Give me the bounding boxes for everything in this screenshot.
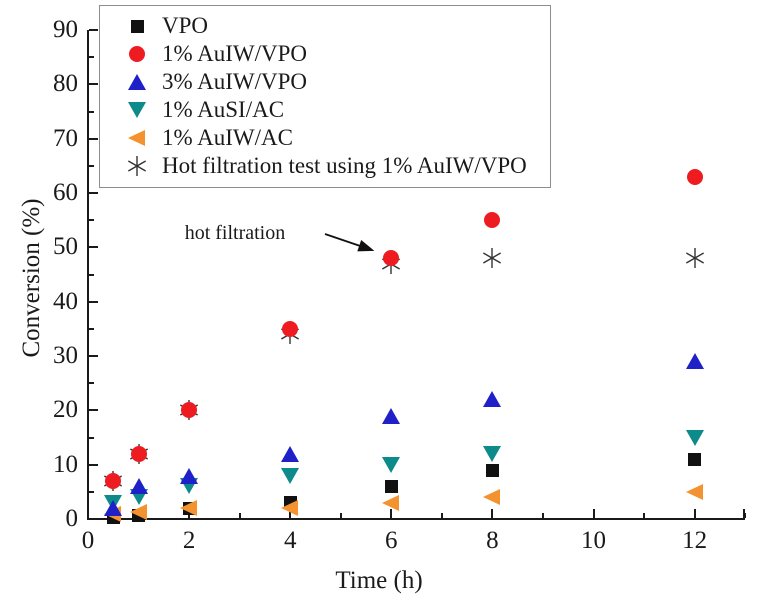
data-point bbox=[483, 446, 501, 462]
y-tick-minor bbox=[89, 165, 94, 167]
data-point bbox=[684, 247, 706, 269]
y-tick-major bbox=[89, 355, 98, 357]
x-tick-label: 10 bbox=[564, 527, 624, 555]
x-tick-major bbox=[593, 509, 595, 518]
circle-icon bbox=[122, 40, 152, 68]
data-point bbox=[180, 500, 197, 516]
y-tick-label: 90 bbox=[18, 16, 78, 44]
legend-marker bbox=[126, 155, 148, 177]
legend-item[interactable]: VPO bbox=[100, 12, 550, 40]
x-tick-label: 2 bbox=[159, 527, 219, 555]
data-point bbox=[282, 321, 298, 337]
triangle-up-icon bbox=[122, 68, 152, 96]
data-point bbox=[483, 489, 500, 505]
legend-item-label: 1% AuIW/VPO bbox=[162, 40, 307, 68]
data-point bbox=[104, 500, 122, 516]
data-point bbox=[486, 464, 499, 477]
y-tick-major bbox=[89, 192, 98, 194]
y-tick-minor bbox=[89, 382, 94, 384]
x-tick-minor bbox=[643, 513, 645, 518]
y-axis-title: Conversion (%) bbox=[18, 78, 46, 478]
x-tick-label: 12 bbox=[665, 527, 725, 555]
y-tick-label: 0 bbox=[18, 505, 78, 533]
data-point bbox=[281, 500, 298, 516]
triangle-left-icon bbox=[122, 124, 152, 152]
x-tick-major bbox=[87, 509, 89, 518]
y-tick-major bbox=[89, 138, 98, 140]
y-tick-minor bbox=[89, 111, 94, 113]
x-tick-major bbox=[694, 509, 696, 518]
data-point bbox=[180, 468, 198, 484]
triangle-down-icon bbox=[122, 96, 152, 124]
legend-item[interactable]: Hot filtration test using 1% AuIW/VPO bbox=[100, 152, 550, 180]
y-tick-minor bbox=[89, 437, 94, 439]
data-point bbox=[385, 480, 398, 493]
legend-item[interactable]: 1% AuIW/AC bbox=[100, 124, 550, 152]
data-point bbox=[687, 169, 703, 185]
x-tick-minor bbox=[239, 513, 241, 518]
data-point bbox=[130, 504, 147, 520]
square-icon bbox=[122, 12, 152, 40]
legend-item[interactable]: 1% AuIW/VPO bbox=[100, 40, 550, 68]
x-tick-label: 8 bbox=[462, 527, 522, 555]
data-point bbox=[382, 408, 400, 424]
legend-item-label: 3% AuIW/VPO bbox=[162, 68, 307, 96]
legend-item[interactable]: 1% AuSI/AC bbox=[100, 96, 550, 124]
annotation-label: hot filtration bbox=[185, 222, 286, 245]
y-tick-minor bbox=[89, 219, 94, 221]
data-point bbox=[688, 453, 701, 466]
data-point bbox=[481, 247, 503, 269]
data-point bbox=[281, 468, 299, 484]
data-point bbox=[281, 446, 299, 462]
y-tick-major bbox=[89, 518, 98, 520]
y-tick-major bbox=[89, 409, 98, 411]
chart-legend: VPO1% AuIW/VPO3% AuIW/VPO1% AuSI/AC1% Au… bbox=[99, 5, 551, 188]
legend-marker bbox=[128, 74, 146, 90]
x-tick-minor bbox=[340, 513, 342, 518]
data-point bbox=[130, 478, 148, 494]
y-tick-minor bbox=[89, 56, 94, 58]
chart-figure: 0246810120102030405060708090 hot filtrat… bbox=[0, 0, 758, 615]
legend-item-label: VPO bbox=[162, 12, 208, 40]
x-tick-label: 4 bbox=[260, 527, 320, 555]
y-tick-major bbox=[89, 464, 98, 466]
data-point bbox=[382, 457, 400, 473]
y-tick-minor bbox=[89, 328, 94, 330]
y-tick-major bbox=[89, 301, 98, 303]
legend-marker bbox=[128, 130, 145, 146]
data-point bbox=[483, 391, 501, 407]
y-tick-major bbox=[89, 83, 98, 85]
x-tick-major bbox=[491, 509, 493, 518]
data-point bbox=[382, 495, 399, 511]
y-tick-major bbox=[89, 246, 98, 248]
asterisk-icon bbox=[122, 152, 152, 180]
x-tick-label: 6 bbox=[361, 527, 421, 555]
legend-item[interactable]: 3% AuIW/VPO bbox=[100, 68, 550, 96]
x-tick-minor bbox=[441, 513, 443, 518]
data-point bbox=[686, 430, 704, 446]
data-point bbox=[686, 353, 704, 369]
data-point bbox=[484, 212, 500, 228]
data-point bbox=[131, 446, 147, 462]
x-axis-title: Time (h) bbox=[0, 567, 758, 595]
legend-marker bbox=[131, 20, 144, 33]
y-tick-major bbox=[89, 29, 98, 31]
legend-marker bbox=[129, 46, 145, 62]
x-axis-line bbox=[88, 518, 745, 520]
legend-item-label: 1% AuIW/AC bbox=[162, 124, 293, 152]
data-point bbox=[686, 484, 703, 500]
y-tick-minor bbox=[89, 274, 94, 276]
legend-item-label: 1% AuSI/AC bbox=[162, 96, 284, 124]
x-axis-end-cap bbox=[743, 509, 745, 518]
x-tick-minor bbox=[542, 513, 544, 518]
legend-marker bbox=[128, 102, 146, 118]
legend-item-label: Hot filtration test using 1% AuIW/VPO bbox=[162, 152, 527, 180]
y-tick-minor bbox=[89, 491, 94, 493]
annotation-arrow-icon bbox=[313, 222, 386, 263]
